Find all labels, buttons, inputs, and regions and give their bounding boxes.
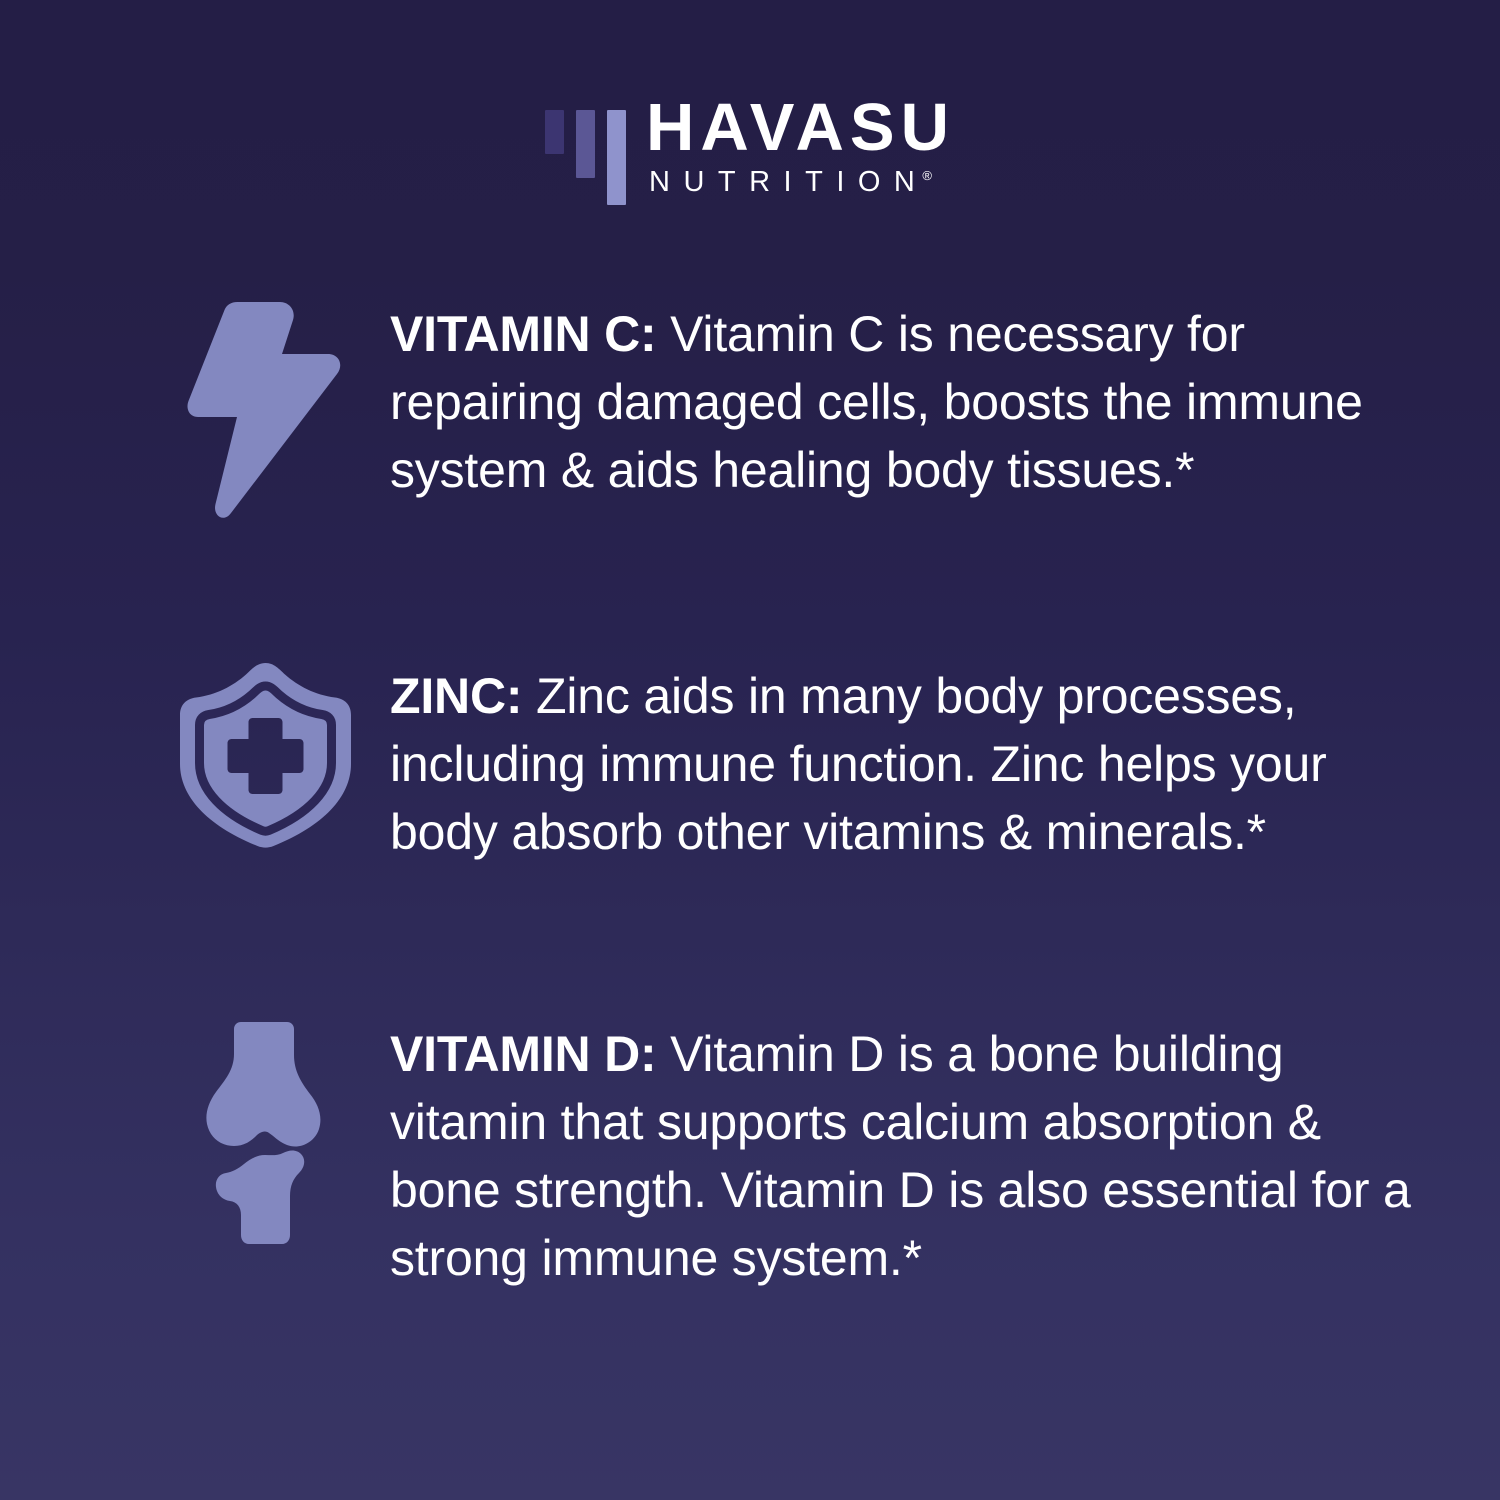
benefit-icon-cell	[140, 1018, 390, 1248]
benefit-paragraph: VITAMIN D: Vitamin D is a bone building …	[390, 1020, 1430, 1292]
benefit-lead: ZINC:	[390, 668, 522, 724]
benefits-list: VITAMIN C: Vitamin C is necessary for re…	[0, 0, 1500, 1500]
bone-joint-icon	[205, 1018, 325, 1248]
benefit-row: ZINC: Zinc aids in many body processes, …	[140, 660, 1430, 866]
benefit-icon-cell	[140, 660, 390, 850]
benefit-row: VITAMIN D: Vitamin D is a bone building …	[140, 1018, 1430, 1292]
lightning-bolt-icon	[185, 298, 345, 523]
benefit-text-cell: ZINC: Zinc aids in many body processes, …	[390, 660, 1430, 866]
benefit-text-cell: VITAMIN D: Vitamin D is a bone building …	[390, 1018, 1430, 1292]
benefit-lead: VITAMIN C:	[390, 306, 656, 362]
benefit-body: Zinc aids in many body processes, includ…	[390, 668, 1327, 860]
infographic-page: HAVASU NUTRITION ® VITAMIN C: Vitamin C …	[0, 0, 1500, 1500]
benefit-row: VITAMIN C: Vitamin C is necessary for re…	[140, 298, 1430, 523]
benefit-paragraph: ZINC: Zinc aids in many body processes, …	[390, 662, 1430, 866]
benefit-text-cell: VITAMIN C: Vitamin C is necessary for re…	[390, 298, 1430, 504]
benefit-paragraph: VITAMIN C: Vitamin C is necessary for re…	[390, 300, 1430, 504]
shield-cross-icon	[178, 660, 353, 850]
benefit-lead: VITAMIN D:	[390, 1026, 656, 1082]
benefit-icon-cell	[140, 298, 390, 523]
